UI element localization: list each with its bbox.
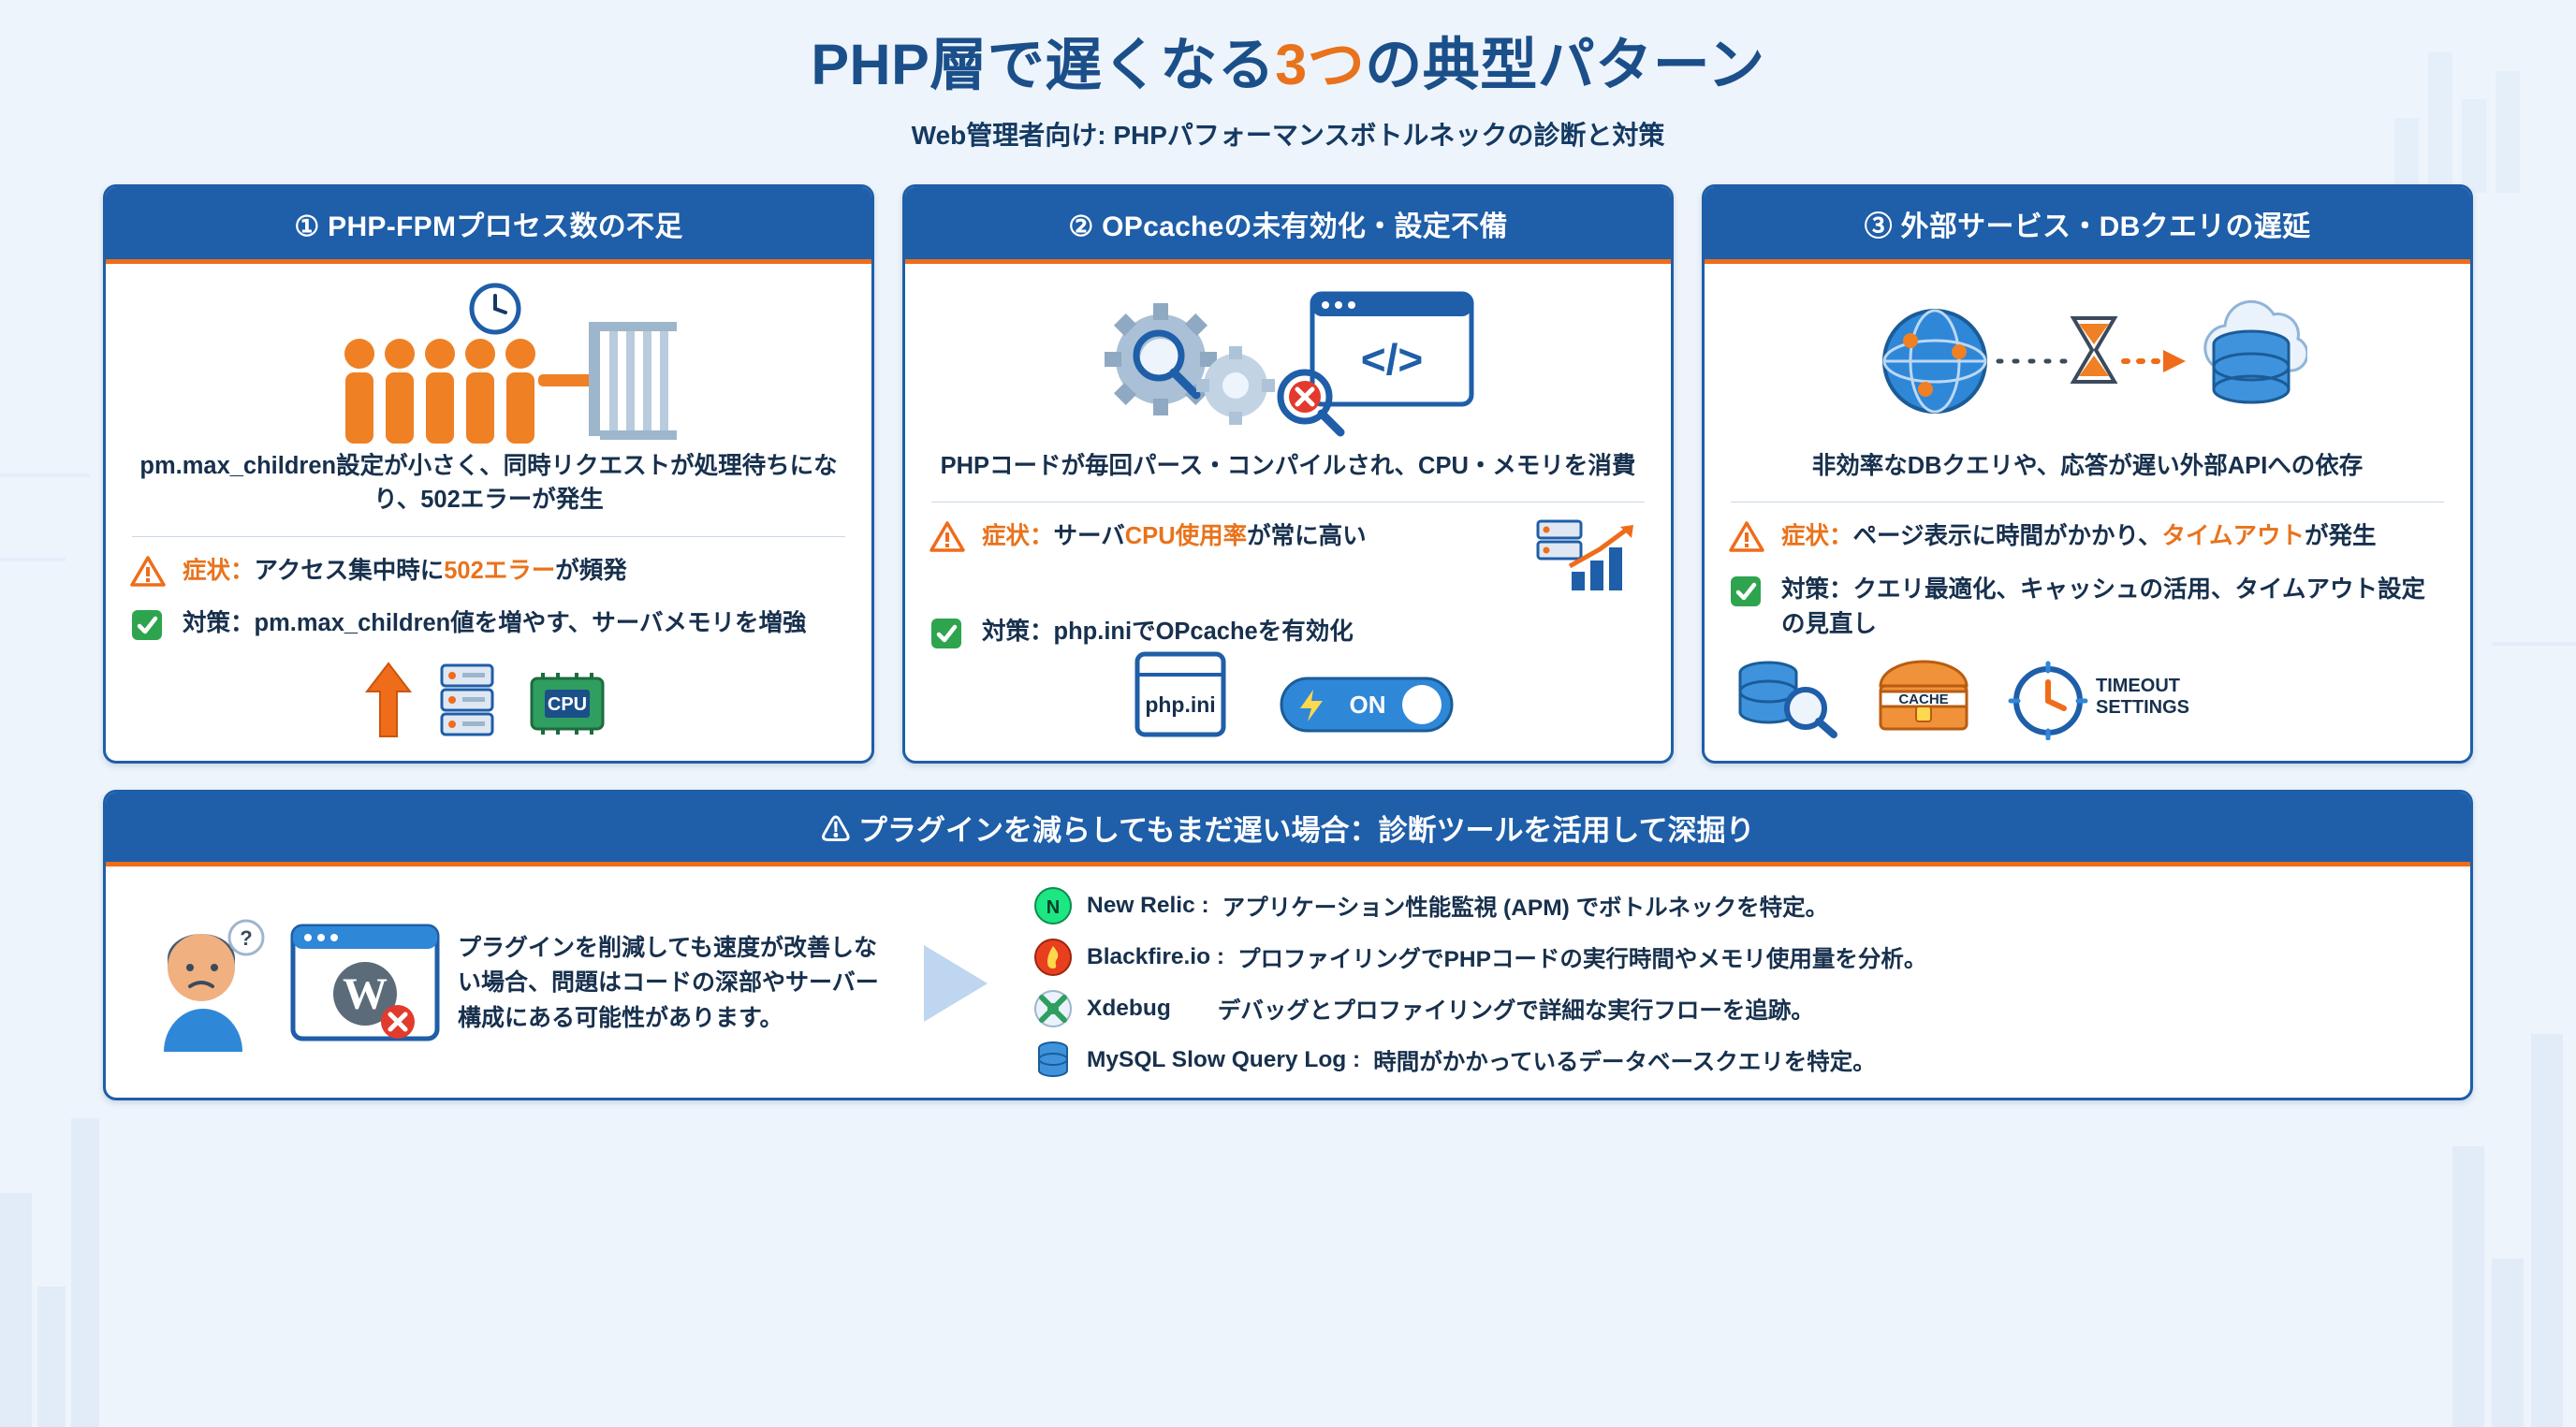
page-title-part1: PHP層で遅くなる (811, 33, 1275, 96)
card-1-symptom-post: が頻発 (555, 558, 627, 584)
card-3-remedy-label: 対策： (1781, 576, 1853, 603)
queue-of-people-at-gate-with-clock-icon (130, 281, 847, 447)
card-2-description: PHPコードが毎回パース・コンパイルされ、CPU・メモリを消費 (929, 449, 1647, 483)
page-subtitle: Web管理者向け: PHPパフォーマンスボトルネックの診断と対策 (103, 115, 2473, 153)
page-title: PHP層で遅くなる3つの典型パターン (103, 34, 2473, 96)
list-item: Xdebug デバッグとプロファイリングで詳細な実行フローを追跡。 (1032, 988, 2444, 1029)
svg-text:W: W (343, 969, 388, 1019)
svg-text:?: ? (240, 926, 252, 950)
card-3-symptom-label: 症状： (1781, 523, 1853, 549)
globe-hourglass-arrow-database-cloud-icon (1729, 281, 2446, 447)
cpu-chip-icon: CPU (520, 667, 614, 740)
card-3-symptom-pre: ページ表示に時間がかかり、 (1853, 523, 2162, 549)
card-1-symptom-highlight: 502エラー (444, 558, 555, 584)
tool-name: MySQL Slow Query Log : (1087, 1047, 1360, 1073)
card-3-remedy: 対策：クエリ最適化、キャッシュの活用、タイムアウト設定の見直し (1729, 573, 2446, 642)
card-php-fpm: ① PHP-FPMプロセス数の不足 (103, 184, 874, 764)
svg-text:N: N (1046, 897, 1060, 918)
card-2-remedy-label: 対策： (982, 619, 1054, 645)
tool-name: Blackfire.io : (1087, 944, 1224, 970)
card-1-description: pm.max_children設定が小さく、同時リクエストが処理待ちになり、50… (130, 449, 847, 517)
card-2-remedy-text: php.iniでOPcacheを有効化 (1054, 619, 1354, 645)
page-title-accent: 3つ (1275, 33, 1365, 96)
card-3-symptom-post: が発生 (2305, 523, 2377, 549)
card-1-remedy-label: 対策： (183, 610, 255, 636)
gears-magnifier-code-window-icon: </> (929, 281, 1647, 447)
tool-desc: アプリケーション性能監視 (APM) でボトルネックを特定。 (1222, 890, 1828, 923)
on-toggle-icon[interactable]: ON (1278, 669, 1456, 740)
xdebug-icon (1032, 988, 1074, 1029)
panel-illustration: ? W プラグインを削減しても速度が改善しない場合、問題はコードの深部やサーバー… (132, 913, 898, 1054)
svg-text:ON: ON (1350, 691, 1386, 719)
cache-chest-icon: CACHE (1871, 654, 1976, 740)
svg-text:CACHE: CACHE (1898, 692, 1948, 707)
list-item: N New Relic : アプリケーション性能監視 (APM) でボトルネック… (1032, 885, 2444, 926)
new-relic-icon: N (1032, 885, 1074, 926)
page-title-part2: の典型パターン (1365, 33, 1764, 96)
card-2-heading: ② OPcacheの未有効化・設定不備 (905, 187, 1671, 264)
divider (1731, 502, 2444, 502)
timeout-label-line1: TIMEOUT (2096, 676, 2189, 697)
arrow-right-icon (920, 932, 1001, 1035)
php-ini-file-icon: php.ini (1120, 650, 1240, 740)
check-icon (929, 615, 969, 650)
card-1-symptom-pre: アクセス集中時に (255, 558, 445, 584)
tool-name: Xdebug (1087, 996, 1171, 1022)
tool-name: New Relic : (1087, 893, 1209, 919)
card-3-remedy-text: クエリ最適化、キャッシュの活用、タイムアウト設定の見直し (1781, 576, 2425, 637)
card-1-remedy-text: pm.max_children値を増やす、サーバメモリを増強 (255, 610, 807, 636)
card-3-symptom: 症状：ページ表示に時間がかかり、タイムアウトが発生 (1729, 519, 2446, 554)
card-2-footer-art: php.ini ON (929, 650, 1647, 740)
card-1-symptom: 症状：アクセス集中時に502エラーが頻発 (130, 554, 847, 589)
check-icon (1729, 573, 1768, 608)
confused-person-icon: ? (132, 913, 272, 1054)
svg-text:php.ini: php.ini (1145, 692, 1215, 717)
card-external-db: ③ 外部サービス・DBクエリの遅延 (1702, 184, 2473, 764)
panel-heading: ⚠ プラグインを減らしてもまだ遅い場合：診断ツールを活用して深掘り (106, 793, 2470, 866)
svg-text:CPU: CPU (548, 694, 587, 715)
list-item: MySQL Slow Query Log : 時間がかかっているデータベースクエ… (1032, 1040, 2444, 1081)
svg-text:</>: </> (1361, 335, 1424, 384)
server-stack-icon (434, 660, 500, 740)
db-search-icon (1734, 654, 1839, 740)
card-3-description: 非効率なDBクエリや、応答が遅い外部APIへの依存 (1729, 449, 2446, 483)
timeout-label-line2: SETTINGS (2096, 697, 2189, 719)
tool-desc: デバッグとプロファイリングで詳細な実行フローを追跡。 (1184, 993, 1814, 1026)
card-1-heading: ① PHP-FPMプロセス数の不足 (106, 187, 871, 264)
up-arrow-icon (363, 660, 414, 740)
warning-icon (130, 554, 169, 588)
card-2-symptom-label: 症状： (982, 523, 1054, 549)
card-3-symptom-highlight: タイムアウト (2162, 523, 2305, 549)
card-2-remedy: 対策：php.iniでOPcacheを有効化 (929, 615, 1647, 650)
warning-icon (929, 519, 969, 553)
tool-desc: 時間がかかっているデータベースクエリを特定。 (1373, 1044, 1876, 1077)
panel-note: プラグインを削減しても速度が改善しない場合、問題はコードの深部やサーバー構成にあ… (458, 931, 898, 1037)
diagnostic-tools-panel: ⚠ プラグインを減らしてもまだ遅い場合：診断ツールを活用して深掘り ? (103, 790, 2473, 1100)
card-1-symptom-label: 症状： (183, 558, 255, 584)
growth-chart-server-icon (1534, 516, 1647, 596)
pattern-cards: ① PHP-FPMプロセス数の不足 (103, 184, 2473, 764)
card-3-heading: ③ 外部サービス・DBクエリの遅延 (1705, 187, 2470, 264)
warning-icon (1729, 519, 1768, 553)
divider (132, 536, 845, 537)
wordpress-error-window-icon: W (285, 913, 445, 1054)
timeout-settings-icon: TIMEOUT SETTINGS (2008, 654, 2189, 740)
tool-desc: プロファイリングでPHPコードの実行時間やメモリ使用量を分析。 (1237, 941, 1926, 974)
card-3-footer-art: CACHE (1729, 650, 2446, 740)
card-1-footer-art: CPU (130, 650, 847, 740)
list-item: Blackfire.io : プロファイリングでPHPコードの実行時間やメモリ使… (1032, 937, 2444, 978)
check-icon (130, 606, 169, 642)
tools-list: N New Relic : アプリケーション性能監視 (APM) でボトルネック… (1027, 885, 2444, 1081)
card-2-symptom: 症状：サーバCPU使用率が常に高い (929, 519, 1647, 596)
card-1-remedy: 対策：pm.max_children値を増やす、サーバメモリを増強 (130, 606, 847, 642)
card-opcache: ② OPcacheの未有効化・設定不備 </> (902, 184, 1674, 764)
mysql-slow-query-log-icon (1032, 1040, 1074, 1081)
card-2-symptom-pre: サーバ (1054, 523, 1125, 549)
card-2-symptom-highlight: CPU使用率 (1125, 523, 1247, 549)
card-2-symptom-post: が常に高い (1247, 523, 1367, 549)
divider (931, 502, 1645, 502)
blackfire-icon (1032, 937, 1074, 978)
